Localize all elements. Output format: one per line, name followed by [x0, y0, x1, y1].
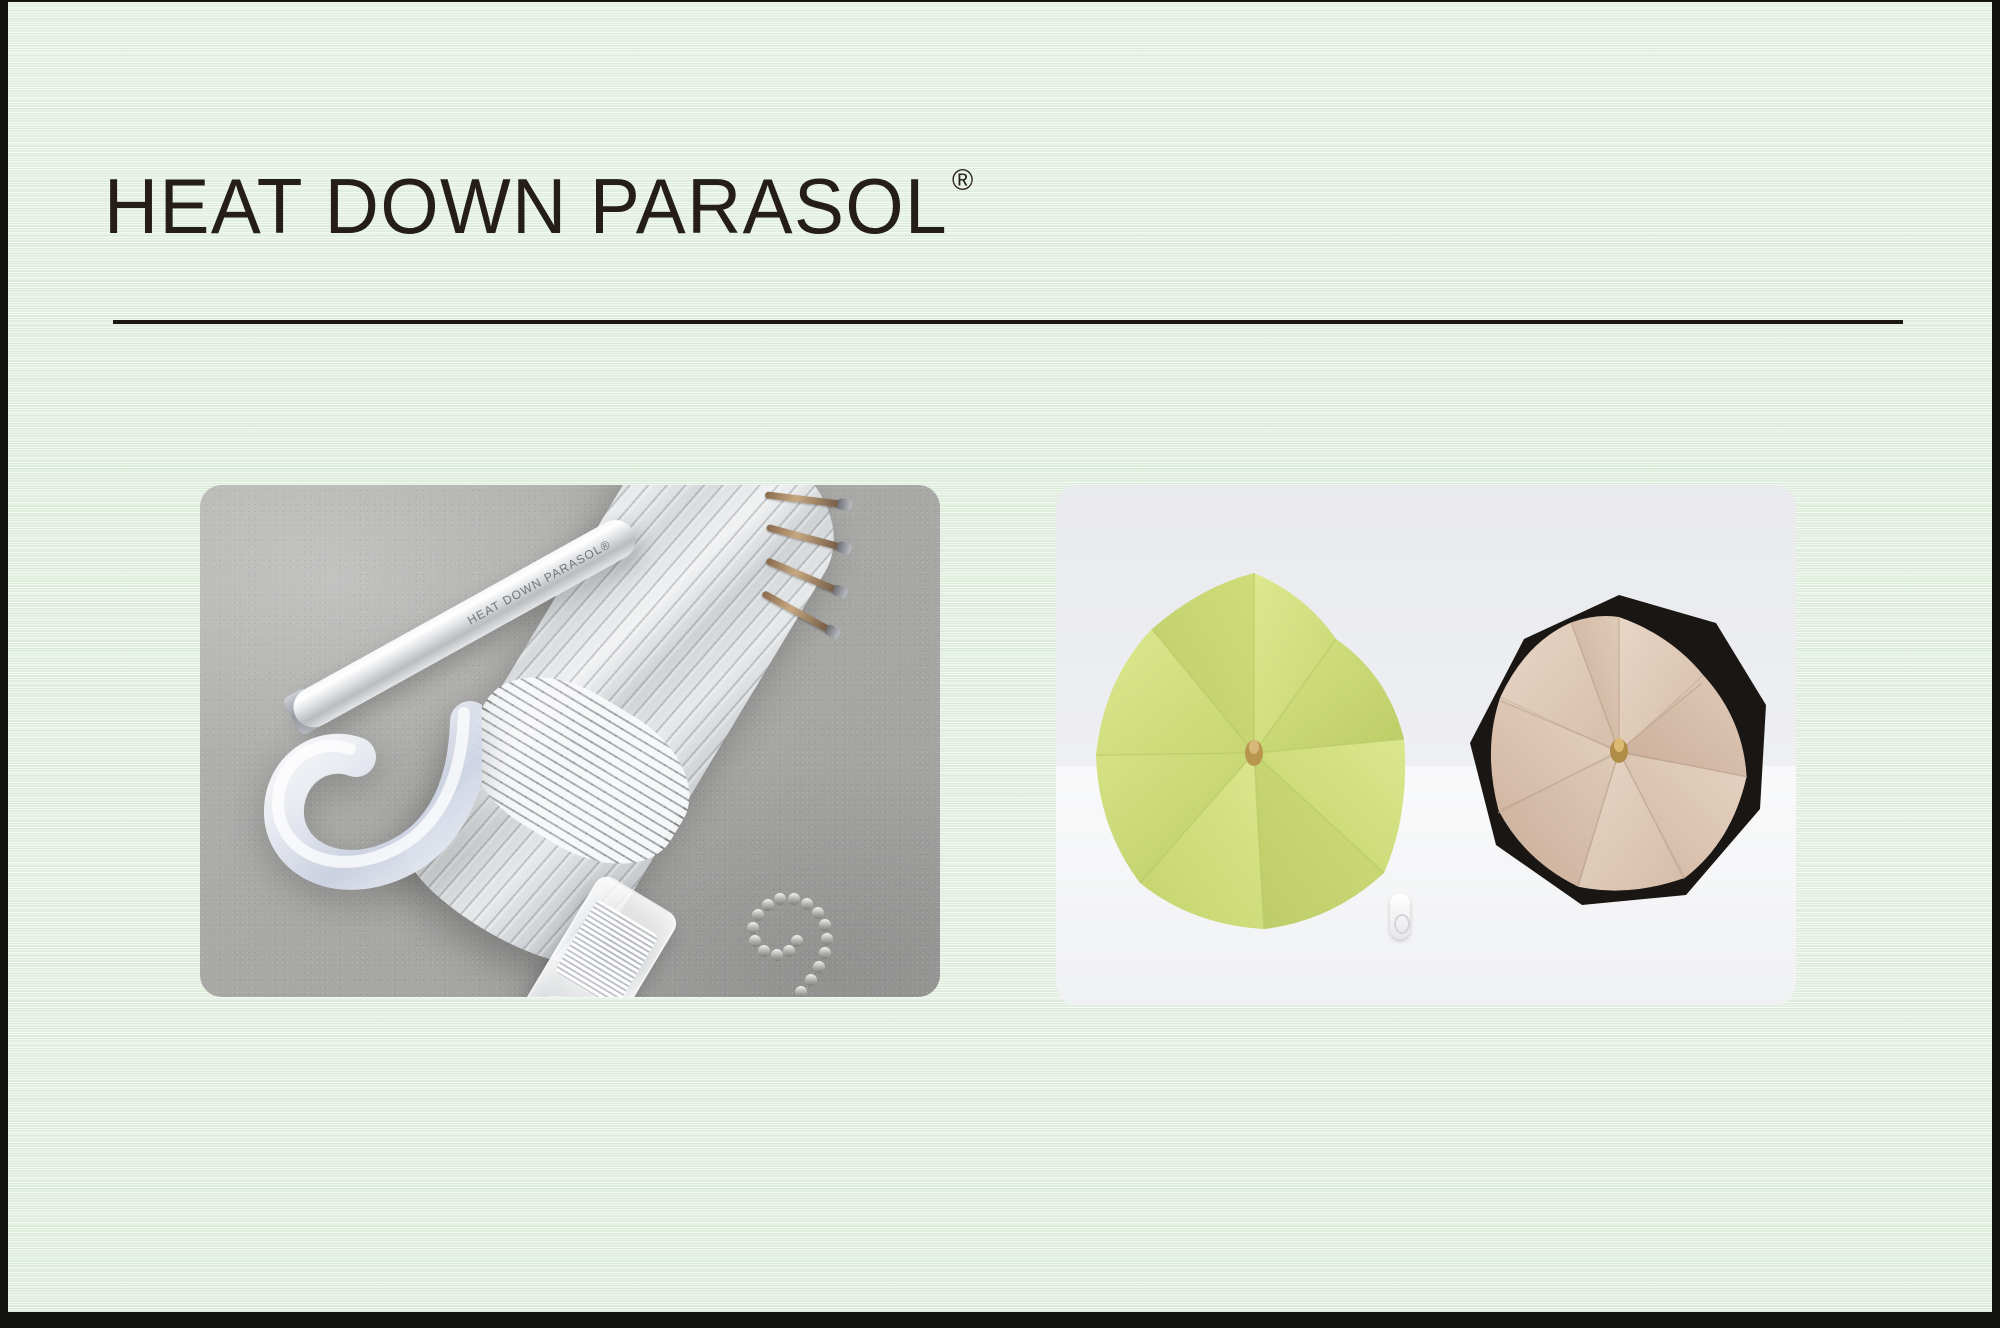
green-parasol-hanger-loop: [1390, 893, 1410, 939]
beige-parasol: [1454, 583, 1784, 923]
screenshot-frame: HEAT DOWN PARASOL®: [0, 0, 2000, 1328]
green-parasol: [1074, 543, 1434, 943]
ball-chain: [670, 873, 870, 997]
title-divider: [113, 320, 1903, 324]
slide-canvas: HEAT DOWN PARASOL®: [8, 2, 1992, 1312]
page-title: HEAT DOWN PARASOL®: [104, 167, 969, 245]
size-comparison-photo: [1056, 485, 1796, 1005]
clear-crook-handle: [262, 701, 482, 916]
rib-tip: [765, 557, 840, 594]
photo-gallery: HEAT DOWN PARASOL®: [8, 485, 1992, 1205]
gallery-item-size-comparison: 親骨55cmの大きめサイズ （通常レディース日傘は親骨50cm） しっかり体をカ…: [1056, 485, 1796, 1005]
page-title-text: HEAT DOWN PARASOL: [104, 162, 948, 250]
clear-handle-photo: HEAT DOWN PARASOL®: [200, 485, 940, 997]
gallery-item-clear-handle: HEAT DOWN PARASOL®: [200, 485, 940, 997]
registered-trademark-icon: ®: [952, 164, 973, 197]
rib-tip: [761, 590, 833, 634]
rib-tip: [766, 524, 843, 551]
title-block: HEAT DOWN PARASOL®: [104, 167, 1904, 245]
